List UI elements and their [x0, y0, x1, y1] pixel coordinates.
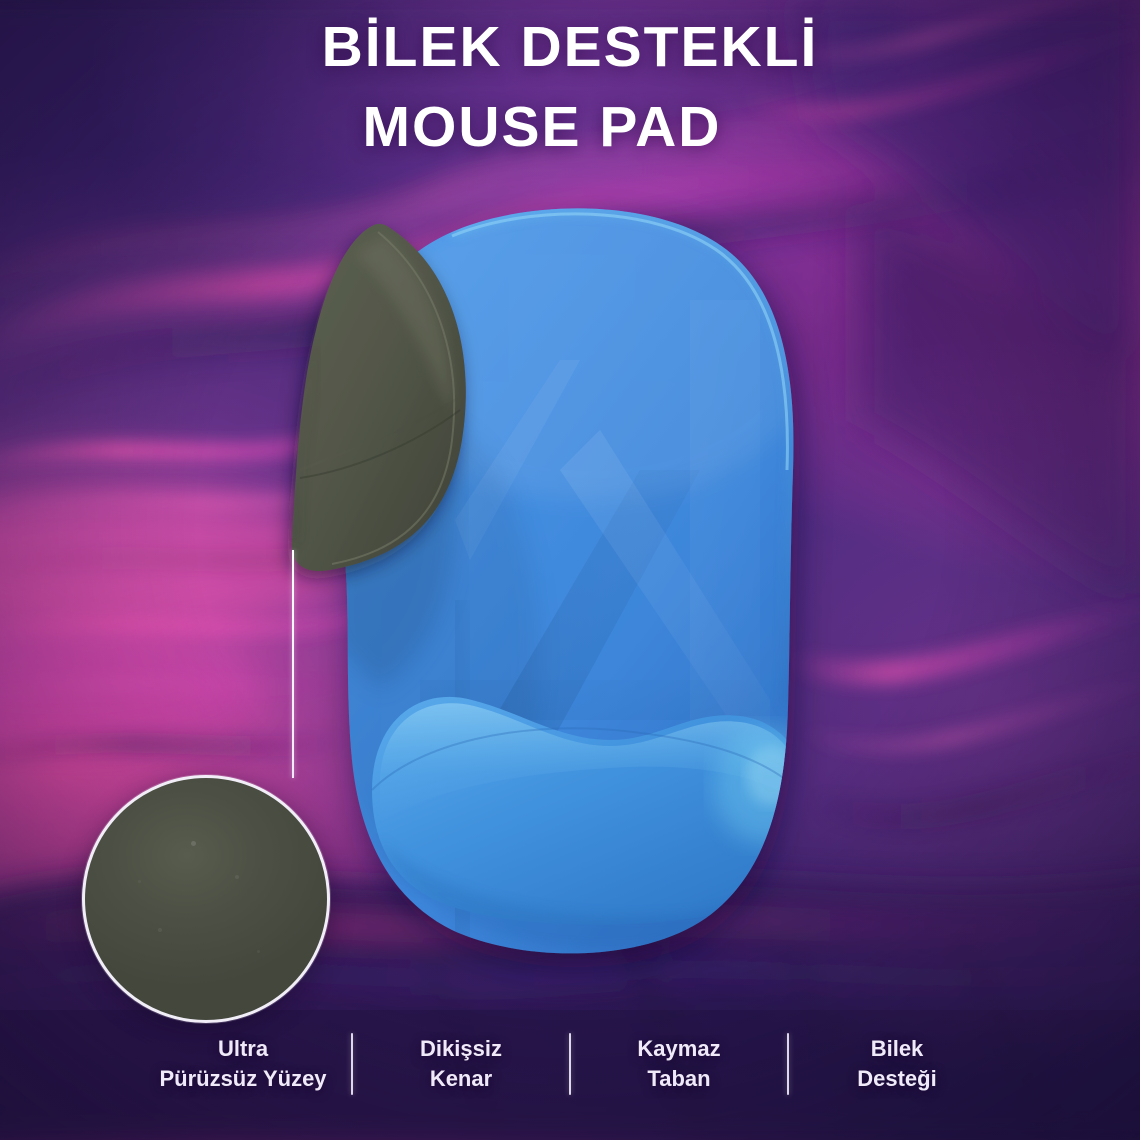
feature-item-wrist-support: Bilek Desteği: [789, 1034, 1005, 1095]
feature-line-2: Pürüzsüz Yüzey: [135, 1064, 351, 1094]
feature-item-non-slip-base: Kaymaz Taban: [571, 1034, 787, 1095]
title-line-2: MOUSE PAD: [0, 98, 1140, 156]
feature-line-2: Taban: [571, 1064, 787, 1094]
feature-line-1: Kaymaz: [571, 1034, 787, 1064]
callout-leader-line: [292, 550, 294, 778]
feature-line-2: Desteği: [789, 1064, 1005, 1094]
feature-line-1: Ultra: [135, 1034, 351, 1064]
title-line-1: BİLEK DESTEKLİ: [0, 18, 1140, 76]
feature-divider-3: [787, 1033, 789, 1095]
feature-divider-2: [569, 1033, 571, 1095]
product-marketing-image: BİLEK DESTEKLİ MOUSE PAD: [0, 0, 1140, 1140]
feature-line-2: Kenar: [353, 1064, 569, 1094]
feature-line-1: Dikişsiz: [353, 1034, 569, 1064]
feature-item-ultra-smooth-surface: Ultra Pürüzsüz Yüzey: [135, 1034, 351, 1095]
callout-surface-closeup: [82, 775, 330, 1023]
page-title: BİLEK DESTEKLİ MOUSE PAD: [0, 18, 1140, 156]
feature-list: Ultra Pürüzsüz Yüzey Dikişsiz Kenar Kaym…: [0, 1016, 1140, 1112]
feature-line-1: Bilek: [789, 1034, 1005, 1064]
feature-item-seamless-edge: Dikişsiz Kenar: [353, 1034, 569, 1095]
feature-divider-1: [351, 1033, 353, 1095]
